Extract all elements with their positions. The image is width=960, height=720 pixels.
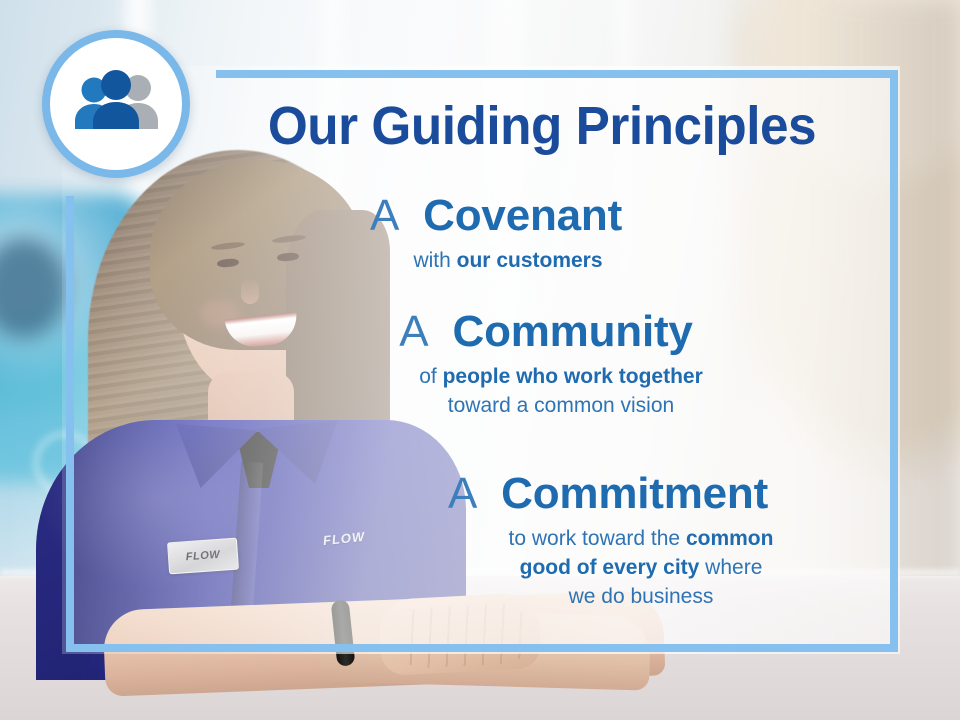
principle-commitment-subtext: to work toward the common good of every … [74,524,890,611]
principle-covenant: A Covenant with our customers [74,190,890,275]
subtext-run-bold: good of every city [520,556,700,579]
page-title: Our Guiding Principles [211,96,872,156]
subtext-run: toward a common vision [448,394,674,417]
subtext-run: we do business [569,585,714,608]
subtext-run: of [419,365,442,388]
principle-covenant-subtext: with our customers [74,246,890,275]
subtext-run-bold: our customers [457,249,603,272]
subtext-run: where [699,556,762,579]
principle-commitment-article: A [448,469,489,518]
banner-image: FLOW FLOW Our Guiding Pr [0,0,960,720]
subtext-run-bold: common [686,527,774,550]
subtext-run-bold: people who work together [443,365,703,388]
subtext-line: we do business [392,582,890,611]
principle-community-subtext: of people who work together toward a com… [74,362,890,420]
subtext-line: toward a common vision [232,391,890,420]
principle-community-article: A [399,307,440,356]
principle-covenant-heading: A Covenant [74,190,890,242]
subtext-line: to work toward the common [392,524,890,553]
principle-community-heading: A Community [74,306,890,358]
subtext-line: of people who work together [232,362,890,391]
principle-commitment-word: Commitment [501,469,768,518]
banner-text-content: Our Guiding Principles A Covenant with o… [74,78,890,644]
principle-covenant-word: Covenant [423,191,622,240]
principle-covenant-article: A [370,191,411,240]
principle-community: A Community of people who work together … [74,306,890,420]
principle-commitment-heading: A Commitment [74,468,890,520]
subtext-line: good of every city where [392,553,890,582]
principle-commitment: A Commitment to work toward the common g… [74,468,890,611]
subtext-run: with [413,249,456,272]
subtext-run: to work toward the [509,527,686,550]
principle-community-word: Community [453,307,693,356]
